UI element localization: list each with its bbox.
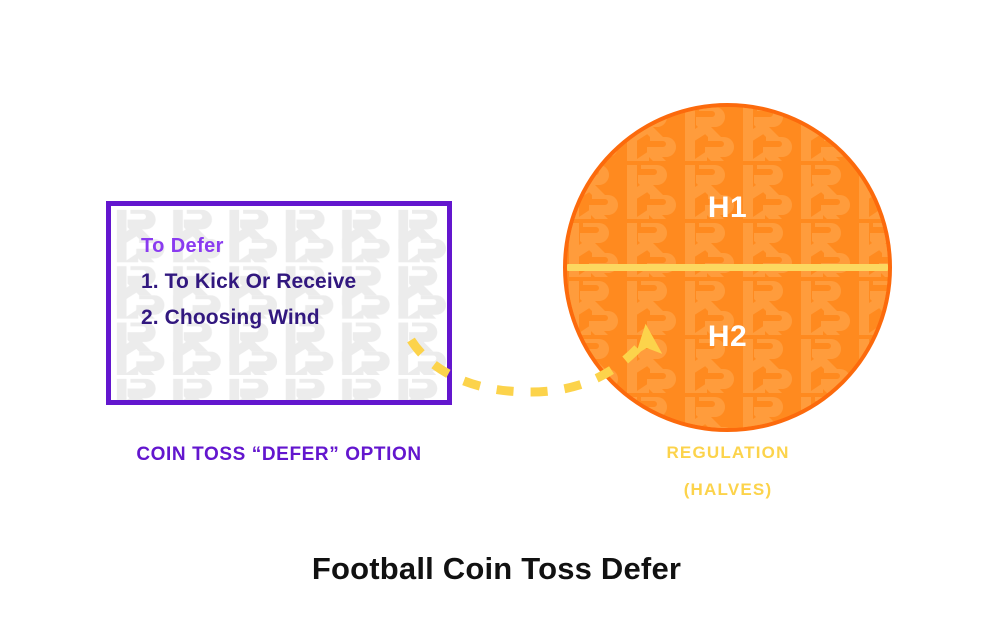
defer-option-box: To Defer 1. To Kick Or Receive 2. Choosi… <box>106 201 452 405</box>
half-label-first: H1 <box>567 193 888 223</box>
regulation-caption-line2: (HALVES) <box>563 481 893 500</box>
infographic-canvas: To Defer 1. To Kick Or Receive 2. Choosi… <box>0 0 993 622</box>
halves-divider-line <box>567 264 888 271</box>
defer-box-content: To Defer 1. To Kick Or Receive 2. Choosi… <box>141 236 435 342</box>
half-label-second: H2 <box>567 322 888 352</box>
defer-item-2: 2. Choosing Wind <box>141 306 435 329</box>
defer-box-caption: COIN TOSS “DEFER” OPTION <box>106 444 452 467</box>
defer-heading: To Defer <box>141 236 435 256</box>
regulation-caption-line1: REGULATION <box>666 443 789 462</box>
defer-item-1: 1. To Kick Or Receive <box>141 270 435 293</box>
regulation-caption: REGULATION (HALVES) <box>563 444 893 499</box>
page-title: Football Coin Toss Defer <box>0 552 993 586</box>
regulation-halves-circle: H1 H2 <box>563 103 892 432</box>
